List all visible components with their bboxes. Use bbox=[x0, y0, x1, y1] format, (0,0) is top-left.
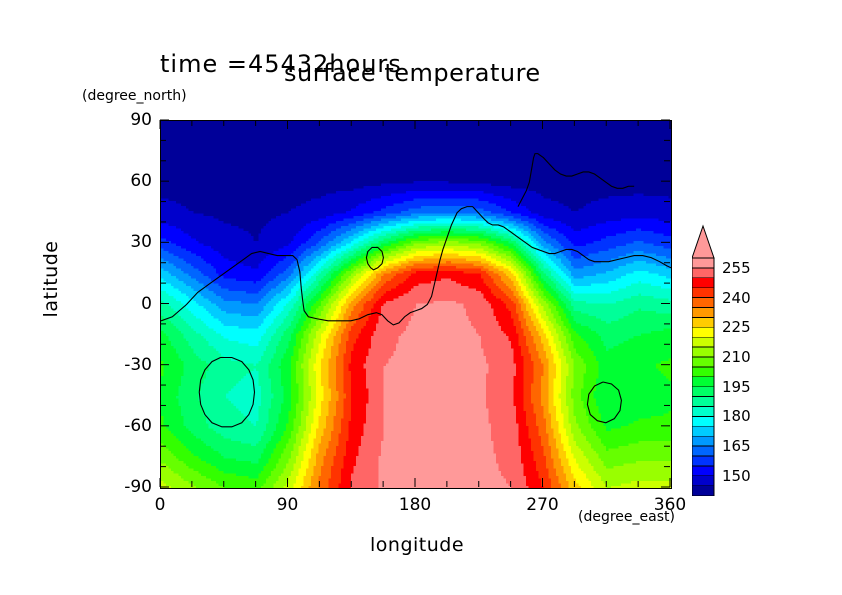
colorbar-swatch bbox=[692, 288, 714, 298]
colorbar-swatch bbox=[692, 456, 714, 466]
colorbar-swatch bbox=[692, 268, 714, 278]
figure-root: time =45432hours surface temperature (de… bbox=[0, 0, 842, 595]
colorbar-tick-label: 210 bbox=[722, 348, 751, 366]
colorbar-swatch bbox=[692, 476, 714, 486]
colorbar-swatch bbox=[692, 397, 714, 407]
colorbar-swatches bbox=[692, 224, 726, 496]
x-axis-label: longitude bbox=[370, 534, 464, 556]
y-axis-units: (degree_north) bbox=[82, 88, 187, 104]
colorbar-tick-label: 255 bbox=[722, 259, 751, 277]
plot-title: surface temperature bbox=[284, 59, 541, 87]
colorbar-swatch bbox=[692, 327, 714, 337]
colorbar-swatch bbox=[692, 416, 714, 426]
colorbar-swatch bbox=[692, 426, 714, 436]
colorbar-swatch bbox=[692, 466, 714, 476]
colorbar-swatch bbox=[692, 436, 714, 446]
y-axis-label: latitude bbox=[40, 219, 62, 339]
y-tick-label: 60 bbox=[104, 171, 152, 191]
colorbar-swatch bbox=[692, 337, 714, 347]
colorbar-top-arrow bbox=[692, 226, 714, 258]
colorbar: 255240225210195180165150 bbox=[692, 224, 726, 500]
colorbar-swatch bbox=[692, 258, 714, 268]
colorbar-swatch bbox=[692, 278, 714, 288]
colorbar-swatch bbox=[692, 486, 714, 496]
colorbar-swatch bbox=[692, 298, 714, 308]
y-tick-label: 30 bbox=[104, 232, 152, 252]
y-tick-label: -30 bbox=[104, 355, 152, 375]
colorbar-swatch bbox=[692, 387, 714, 397]
colorbar-swatch bbox=[692, 357, 714, 367]
colorbar-swatch bbox=[692, 308, 714, 318]
y-tick-label: 90 bbox=[104, 110, 152, 130]
colorbar-swatch bbox=[692, 367, 714, 377]
colorbar-tick-label: 165 bbox=[722, 437, 751, 455]
colorbar-tick-label: 195 bbox=[722, 378, 751, 396]
axis-tick-marks bbox=[150, 110, 690, 510]
colorbar-tick-label: 225 bbox=[722, 318, 751, 336]
colorbar-tick-label: 150 bbox=[722, 467, 751, 485]
y-tick-label: 0 bbox=[104, 294, 152, 314]
y-tick-label: -60 bbox=[104, 416, 152, 436]
colorbar-swatch bbox=[692, 317, 714, 327]
colorbar-swatch bbox=[692, 446, 714, 456]
colorbar-swatch bbox=[692, 347, 714, 357]
colorbar-swatch bbox=[692, 377, 714, 387]
colorbar-swatch bbox=[692, 407, 714, 417]
colorbar-tick-label: 240 bbox=[722, 289, 751, 307]
y-tick-label: -90 bbox=[104, 477, 152, 497]
colorbar-tick-label: 180 bbox=[722, 407, 751, 425]
